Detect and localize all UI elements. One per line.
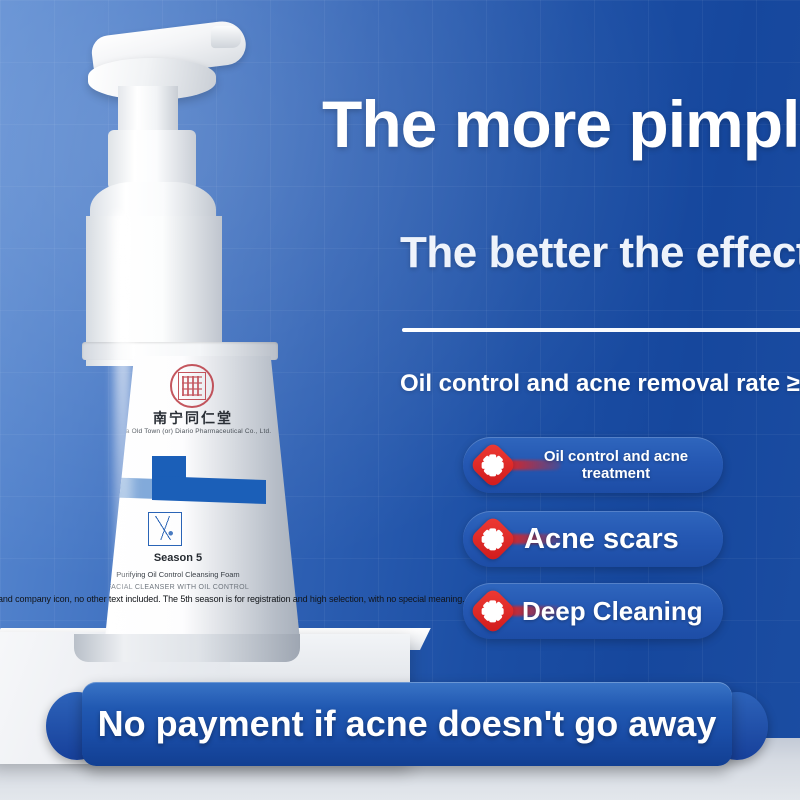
bottom-banner[interactable]: No payment if acne doesn't go away (62, 682, 752, 770)
product-subtitle-caps: FACIAL CLEANSER WITH OIL CONTROL (68, 584, 288, 591)
feature-pill-oil-control[interactable]: Oil control and acne treatment (463, 437, 723, 493)
feature-pill-label: Acne scars (524, 523, 679, 556)
headline: The more pimples (322, 86, 800, 162)
product-bottle: 南宁同仁堂 Leka Old Town (or) Diario Pharmace… (74, 12, 364, 672)
promo-poster: 南宁同仁堂 Leka Old Town (or) Diario Pharmace… (0, 0, 800, 800)
red-cross-diamond-icon (469, 441, 517, 489)
subheadline: The better the effect (400, 228, 800, 278)
feature-pill-label: Oil control and acne treatment (518, 448, 714, 483)
feature-pill-label: Deep Cleaning (522, 596, 703, 627)
red-cross-diamond-icon (469, 587, 517, 635)
banner-text: No payment if acne doesn't go away (98, 703, 717, 745)
brand-name-cn: 南宁同仁堂 (118, 408, 268, 428)
feature-pill-acne-scars[interactable]: Acne scars (463, 511, 723, 567)
product-subtitle: Purifying Oil Control Cleansing Foam (68, 570, 288, 579)
feature-pill-deep-cleaning[interactable]: Deep Cleaning (463, 583, 723, 639)
bottle-neck (108, 130, 196, 190)
red-seal-stamp-icon (170, 364, 214, 408)
bottle-highlight (114, 212, 132, 632)
red-cross-diamond-icon (469, 515, 517, 563)
leaf-square-logo-icon (148, 512, 182, 546)
label-accent-bar-dark-horizontal (152, 476, 266, 504)
claim-text: Oil control and acne removal rate ≥98.37… (400, 370, 800, 398)
banner-body[interactable]: No payment if acne doesn't go away (82, 682, 732, 766)
disclaimer-text: and company icon, no other text included… (0, 594, 468, 604)
divider-rule (402, 328, 800, 332)
bottle-base (74, 634, 300, 662)
bottle-cone-body: 南宁同仁堂 Leka Old Town (or) Diario Pharmace… (56, 356, 300, 652)
